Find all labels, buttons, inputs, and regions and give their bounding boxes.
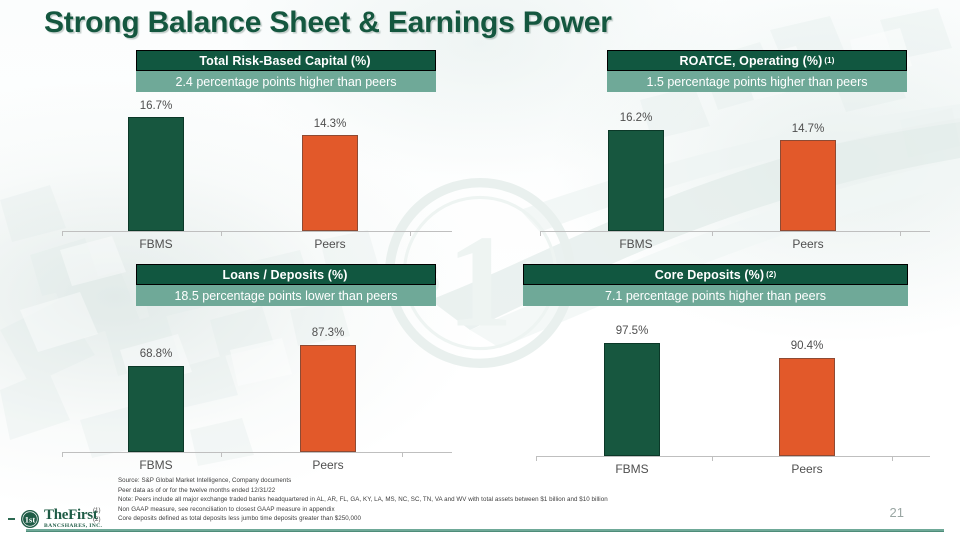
page-title: Strong Balance Sheet & Earnings Power <box>44 6 612 40</box>
axis-tick <box>900 231 901 236</box>
axis-tick <box>540 231 541 236</box>
chart-axis-line <box>62 231 452 232</box>
panel-subtitle-loans-deposits: 18.5 percentage points lower than peers <box>136 285 436 306</box>
footnote-peer-note: Note: Peers include all major exchange t… <box>118 495 608 505</box>
panel-total-risk-based-capital: Total Risk-Based Capital (%) 2.4 percent… <box>136 50 436 92</box>
category-label-fbms: FBMS <box>126 237 186 251</box>
chart-roatce-operating: 16.2% 14.7% FBMS Peers <box>540 100 930 255</box>
chart-axis-line <box>540 231 930 232</box>
bar-fbms <box>128 366 184 452</box>
bar-value-fbms: 16.2% <box>606 112 666 124</box>
category-label-peers: Peers <box>778 237 838 251</box>
chart-total-risk-based-capital: 16.7% 14.3% FBMS Peers <box>62 100 452 255</box>
axis-tick <box>221 231 222 236</box>
logo-tagline: BANCSHARES, INC. <box>44 524 102 530</box>
panel-title-text: ROATCE, Operating (%) <box>680 54 823 68</box>
bar-value-fbms: 16.7% <box>126 100 186 112</box>
logo-dash-icon <box>8 518 15 520</box>
page-number: 21 <box>890 505 904 520</box>
logo-name: TheFirst <box>44 508 102 523</box>
bar-value-peers: 14.3% <box>300 118 360 130</box>
footer-divider-shadow <box>26 531 944 532</box>
axis-tick <box>892 456 893 461</box>
panel-subtitle-roatce-operating: 1.5 percentage points higher than peers <box>607 71 907 92</box>
axis-tick <box>712 231 713 236</box>
bar-peers <box>300 345 356 452</box>
chart-axis-line <box>536 456 930 457</box>
bar-peers <box>780 140 836 231</box>
axis-tick <box>410 231 411 236</box>
bar-peers <box>302 135 358 231</box>
panel-roatce-operating: ROATCE, Operating (%)(1) 1.5 percentage … <box>607 50 907 92</box>
bar-value-fbms: 68.8% <box>126 348 186 360</box>
svg-text:1: 1 <box>447 208 513 355</box>
bar-fbms <box>604 343 660 456</box>
bar-fbms <box>128 117 184 231</box>
panel-title-text: Total Risk-Based Capital (%) <box>199 54 370 68</box>
slide: 1 s t Strong Balance Sheet & Earnings Po… <box>0 0 960 540</box>
axis-tick <box>712 456 713 461</box>
category-label-peers: Peers <box>300 237 360 251</box>
category-label-fbms: FBMS <box>606 237 666 251</box>
footnote-core-deposits: Core deposits defined as total deposits … <box>118 514 608 524</box>
logo-text-block: TheFirst BANCSHARES, INC. <box>44 508 102 530</box>
logo-seal-icon: 1st <box>20 509 40 529</box>
panel-subtitle-core-deposits: 7.1 percentage points higher than peers <box>523 285 908 306</box>
panel-title-roatce-operating: ROATCE, Operating (%)(1) <box>607 50 907 71</box>
bar-peers <box>779 358 835 456</box>
category-label-fbms: FBMS <box>126 458 186 472</box>
chart-axis-line <box>62 452 452 453</box>
bar-fbms <box>608 130 664 231</box>
panel-subtitle-total-risk-based-capital: 2.4 percentage points higher than peers <box>136 71 436 92</box>
panel-title-loans-deposits: Loans / Deposits (%) <box>136 264 436 285</box>
company-logo: 1st TheFirst BANCSHARES, INC. <box>8 508 102 530</box>
axis-tick <box>402 452 403 457</box>
chart-core-deposits: 97.5% 90.4% FBMS Peers <box>536 318 930 478</box>
svg-text:1st: 1st <box>25 514 36 524</box>
footnote-peer-data: Peer data as of or for the twelve months… <box>118 486 608 496</box>
category-label-peers: Peers <box>777 462 837 476</box>
bar-value-peers: 90.4% <box>777 340 837 352</box>
panel-title-core-deposits: Core Deposits (%)(2) <box>523 264 908 285</box>
bar-value-fbms: 97.5% <box>602 325 662 337</box>
footnotes-block: Source: S&P Global Market Intelligence, … <box>118 476 608 524</box>
panel-loans-deposits: Loans / Deposits (%) 18.5 percentage poi… <box>136 264 436 306</box>
axis-tick <box>221 452 222 457</box>
axis-tick <box>62 231 63 236</box>
chart-loans-deposits: 68.8% 87.3% FBMS Peers <box>62 318 452 478</box>
footnote-source: Source: S&P Global Market Intelligence, … <box>118 476 608 486</box>
panel-core-deposits: Core Deposits (%)(2) 7.1 percentage poin… <box>523 264 908 306</box>
footnote-non-gaap: Non GAAP measure, see reconciliation to … <box>118 505 608 515</box>
panel-title-text: Core Deposits (%) <box>655 268 764 282</box>
bar-value-peers: 14.7% <box>778 123 838 135</box>
category-label-fbms: FBMS <box>602 462 662 476</box>
category-label-peers: Peers <box>298 458 358 472</box>
bar-value-peers: 87.3% <box>298 327 358 339</box>
axis-tick <box>62 452 63 457</box>
axis-tick <box>536 456 537 461</box>
panel-title-total-risk-based-capital: Total Risk-Based Capital (%) <box>136 50 436 71</box>
panel-title-text: Loans / Deposits (%) <box>223 268 348 282</box>
